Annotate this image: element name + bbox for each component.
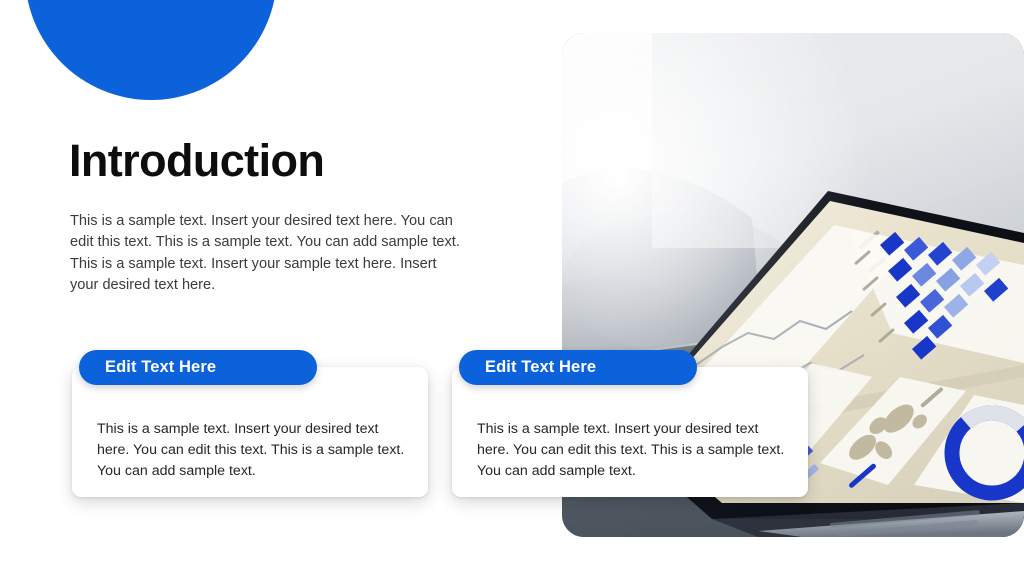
content-card-right: This is a sample text. Insert your desir… (452, 350, 808, 500)
card-text-right: This is a sample text. Insert your desir… (477, 419, 789, 482)
intro-paragraph: This is a sample text. Insert your desir… (70, 211, 460, 296)
page-title: Introduction (69, 137, 324, 184)
decorative-blue-circle (25, 0, 277, 100)
card-text-left: This is a sample text. Insert your desir… (97, 419, 409, 482)
card-heading-label-left: Edit Text Here (79, 358, 216, 377)
card-body-left: This is a sample text. Insert your desir… (72, 367, 428, 497)
slide-canvas: Introduction This is a sample text. Inse… (0, 0, 1024, 576)
card-heading-pill-left[interactable]: Edit Text Here (79, 350, 317, 385)
card-body-right: This is a sample text. Insert your desir… (452, 367, 808, 497)
content-card-left: This is a sample text. Insert your desir… (72, 350, 428, 500)
card-heading-label-right: Edit Text Here (459, 358, 596, 377)
card-heading-pill-right[interactable]: Edit Text Here (459, 350, 697, 385)
